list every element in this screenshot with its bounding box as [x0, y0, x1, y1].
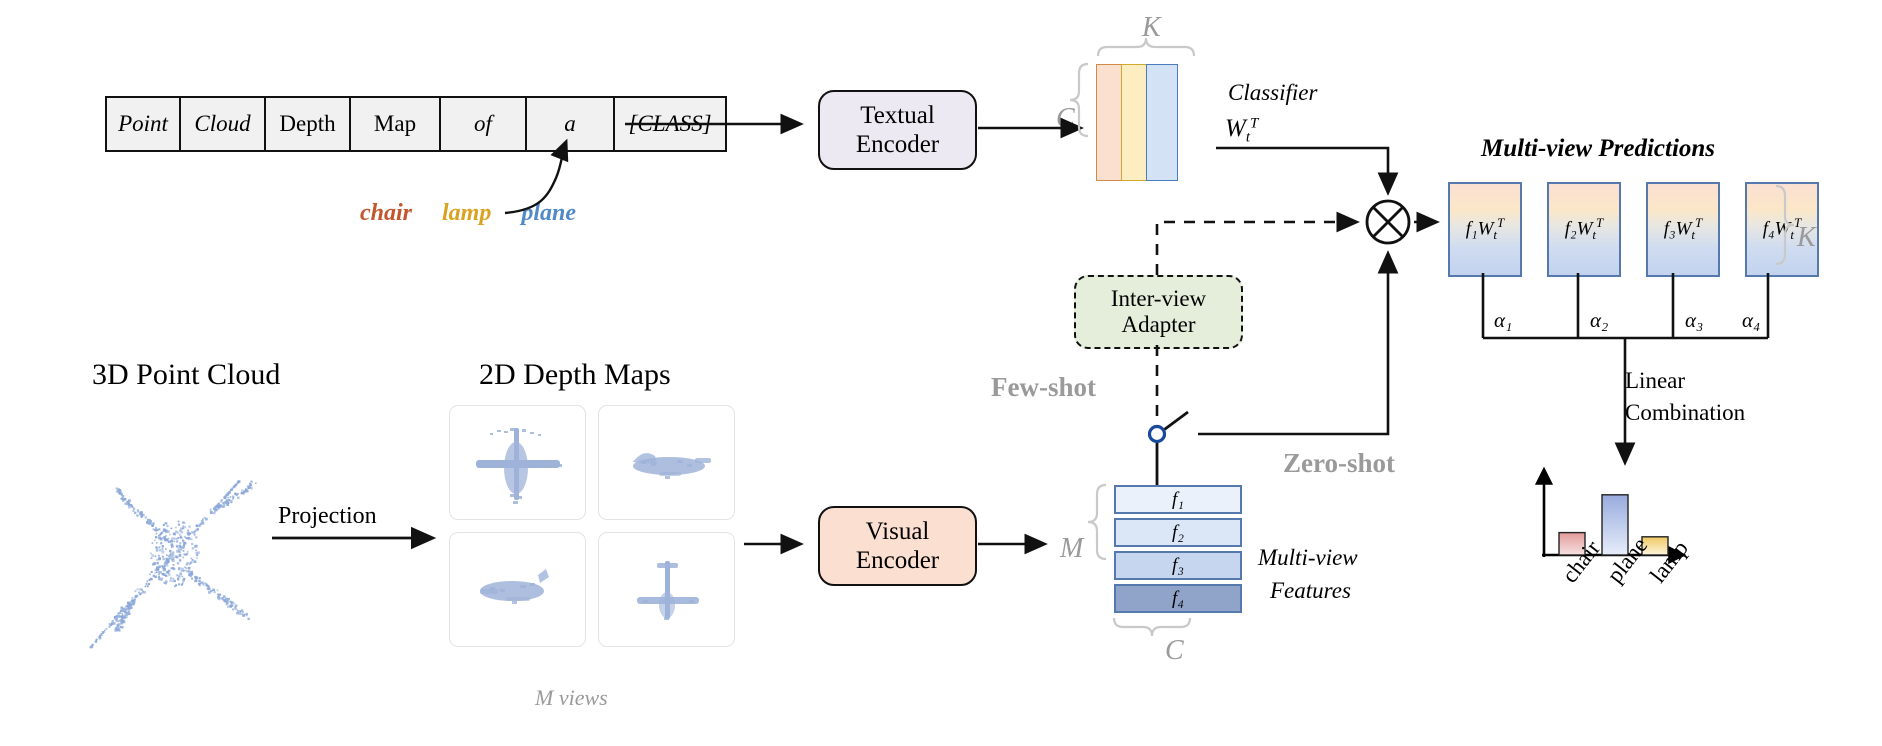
- prediction-box-label: f₂WtT: [1565, 215, 1604, 243]
- few-shot-label: Few-shot: [991, 372, 1096, 403]
- classifier-k-label: K: [1142, 12, 1161, 44]
- classifier-c-label: C: [1056, 103, 1075, 135]
- prediction-box: f₁WtT: [1448, 182, 1522, 277]
- alpha-label: α₁: [1494, 308, 1512, 333]
- adapter-line2: Adapter: [1121, 312, 1195, 338]
- prompt-token: Cloud: [181, 98, 266, 150]
- alpha-label: α₂: [1590, 308, 1608, 333]
- prompt-token: a: [527, 98, 615, 150]
- zero-shot-label: Zero-shot: [1283, 448, 1395, 479]
- prediction-box-label: f₁WtT: [1466, 215, 1505, 243]
- depth-map-grid: [449, 405, 735, 647]
- projection-label: Projection: [278, 503, 377, 530]
- class-word-list: chair lamp plane: [360, 200, 576, 227]
- depth-map-top-view-icon: [450, 406, 586, 520]
- visual-encoder-line1: Visual: [866, 517, 930, 546]
- prediction-box-row: f₁WtT f₂WtT f₃WtT f₄WtT: [1448, 182, 1819, 277]
- point-cloud-title: 3D Point Cloud: [92, 358, 280, 392]
- prompt-token: of: [441, 98, 527, 150]
- prompt-token: Point: [107, 98, 181, 150]
- depth-maps-title: 2D Depth Maps: [479, 358, 671, 392]
- views-caption: M views: [535, 685, 608, 711]
- depth-map-card: [598, 405, 735, 520]
- diagram-canvas: Point Cloud Depth Map of a [CLASS] chair…: [0, 0, 1882, 746]
- prompt-token: Map: [351, 98, 441, 150]
- path-classifier-to-product: [1216, 148, 1388, 192]
- depth-map-card: [449, 532, 586, 647]
- brace-features-m: [1088, 485, 1106, 559]
- feature-row: f₄: [1114, 584, 1242, 613]
- switch-pivot-icon: [1150, 427, 1165, 442]
- feature-caption-line2: Features: [1270, 578, 1351, 604]
- prediction-box: f₂WtT: [1547, 182, 1621, 277]
- class-word-chair: chair: [360, 200, 412, 227]
- prompt-token-class: [CLASS]: [615, 98, 725, 150]
- classifier-column: [1146, 64, 1178, 181]
- feature-row: f₂: [1114, 518, 1242, 547]
- textual-encoder-line1: Textual: [860, 101, 935, 130]
- class-word-lamp: lamp: [442, 200, 491, 227]
- inter-view-adapter-block: Inter-view Adapter: [1074, 275, 1243, 349]
- prompt-token-table: Point Cloud Depth Map of a [CLASS]: [105, 96, 727, 152]
- feature-row: f₁: [1114, 485, 1242, 514]
- depth-map-front-view-icon: [599, 533, 735, 647]
- tensor-product-operator: [1367, 201, 1409, 243]
- textual-encoder-line2: Encoder: [856, 130, 939, 159]
- prediction-box-label: f₄WtT: [1763, 215, 1802, 243]
- visual-encoder-block: Visual Encoder: [818, 506, 977, 586]
- class-word-plane: plane: [521, 200, 576, 227]
- depth-map-oblique-view-icon: [450, 533, 586, 647]
- brace-features-c: [1114, 618, 1190, 636]
- predictions-k-label: K: [1797, 222, 1816, 254]
- classifier-column: [1096, 64, 1121, 181]
- linear-combination-line1: Linear: [1625, 368, 1685, 394]
- point-cloud-render: [70, 420, 280, 670]
- textual-encoder-block: Textual Encoder: [818, 90, 977, 170]
- adapter-line1: Inter-view: [1111, 286, 1206, 312]
- depth-map-card: [449, 405, 586, 520]
- classifier-column: [1121, 64, 1146, 181]
- mode-switch: [1150, 412, 1189, 485]
- feature-caption-line1: Multi-view: [1258, 545, 1358, 571]
- feature-c-label: C: [1165, 635, 1184, 667]
- linear-combination-line2: Combination: [1625, 400, 1745, 426]
- depth-map-card: [598, 532, 735, 647]
- alpha-label: α₄: [1742, 308, 1760, 333]
- alpha-label: α₃: [1685, 308, 1703, 333]
- depth-map-side-view-icon: [599, 406, 735, 520]
- prediction-box: f₃WtT: [1646, 182, 1720, 277]
- visual-encoder-line2: Encoder: [856, 546, 939, 575]
- predictions-title: Multi-view Predictions: [1481, 135, 1715, 163]
- feature-m-label: M: [1060, 533, 1083, 565]
- multi-view-feature-stack: f₁ f₂ f₃ f₄: [1114, 485, 1242, 613]
- path-adapter-to-product-dashed: [1157, 222, 1356, 275]
- classifier-matrix: [1096, 64, 1178, 179]
- classifier-name-label: Classifier: [1228, 80, 1317, 106]
- prompt-token: Depth: [266, 98, 351, 150]
- classifier-weight-label: WtT: [1225, 115, 1258, 147]
- prediction-box-label: f₃WtT: [1664, 215, 1703, 243]
- feature-row: f₃: [1114, 551, 1242, 580]
